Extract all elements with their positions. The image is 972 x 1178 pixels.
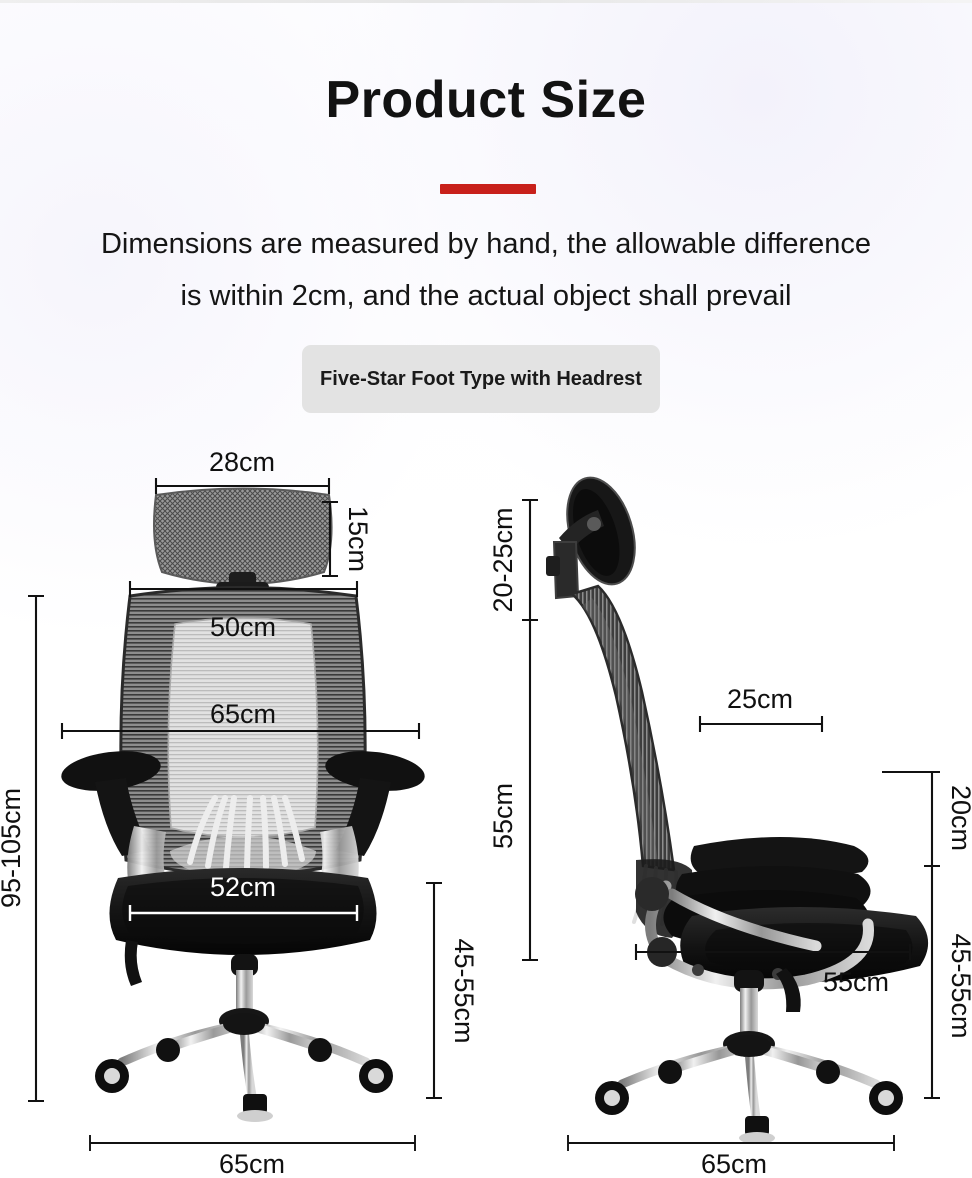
dim-label-base-width: 65cm bbox=[219, 1149, 285, 1178]
dim-side-base-width: 65cm bbox=[568, 1135, 894, 1178]
dim-label-backrest-top-width: 50cm bbox=[210, 612, 276, 642]
dim-label-overall-height: 95-105cm bbox=[0, 788, 26, 908]
subtitle: Dimensions are measured by hand, the all… bbox=[0, 218, 972, 322]
dim-headrest-height: 15cm bbox=[322, 502, 373, 576]
dim-label-side-base-width: 65cm bbox=[701, 1149, 767, 1178]
dim-side-backrest-height: 55cm bbox=[488, 620, 538, 960]
chair-side-illustration bbox=[546, 469, 928, 1144]
dim-label-overall-width: 65cm bbox=[210, 699, 276, 729]
front-view-figure: 28cm 15cm 50cm 65cm 52cm 95-105cm bbox=[0, 446, 486, 1178]
dim-side-seat-height: 45-55cm bbox=[924, 866, 972, 1098]
title-divider bbox=[440, 184, 536, 194]
dim-side-headrest-height: 20-25cm bbox=[488, 500, 538, 620]
dim-overall-height: 95-105cm bbox=[0, 596, 44, 1101]
dim-label-seat-width: 52cm bbox=[210, 872, 276, 902]
dim-label-headrest-height: 15cm bbox=[343, 506, 373, 572]
variant-badge: Five-Star Foot Type with Headrest bbox=[302, 345, 660, 413]
dim-label-armrest-depth: 25cm bbox=[727, 684, 793, 714]
dim-label-seat-height: 45-55cm bbox=[449, 938, 479, 1043]
dim-seat-height: 45-55cm bbox=[426, 883, 479, 1098]
dim-label-seat-depth: 55cm bbox=[823, 967, 889, 997]
chair-front-illustration bbox=[59, 489, 427, 1123]
page-title: Product Size bbox=[0, 73, 972, 128]
subtitle-line-1: Dimensions are measured by hand, the all… bbox=[0, 218, 972, 270]
dim-label-side-backrest-height: 55cm bbox=[488, 783, 518, 849]
dim-label-side-seat-height: 45-55cm bbox=[946, 933, 972, 1038]
top-border bbox=[0, 0, 972, 3]
dim-base-width: 65cm bbox=[90, 1135, 415, 1178]
figures-area: 28cm 15cm 50cm 65cm 52cm 95-105cm bbox=[0, 446, 972, 1178]
variant-badge-label: Five-Star Foot Type with Headrest bbox=[320, 368, 642, 391]
dim-label-backrest-to-seat: 20cm bbox=[946, 785, 972, 851]
dim-label-headrest-width: 28cm bbox=[209, 447, 275, 477]
dim-label-side-headrest-height: 20-25cm bbox=[488, 507, 518, 612]
side-view-figure: 20-25cm 55cm 25cm 20cm 45-55cm bbox=[486, 446, 972, 1178]
dim-headrest-width: 28cm bbox=[156, 447, 329, 494]
product-size-page: Product Size Dimensions are measured by … bbox=[0, 0, 972, 1178]
dim-armrest-depth: 25cm bbox=[700, 684, 822, 732]
subtitle-line-2: is within 2cm, and the actual object sha… bbox=[0, 270, 972, 322]
dim-backrest-to-seat: 20cm bbox=[882, 772, 972, 866]
